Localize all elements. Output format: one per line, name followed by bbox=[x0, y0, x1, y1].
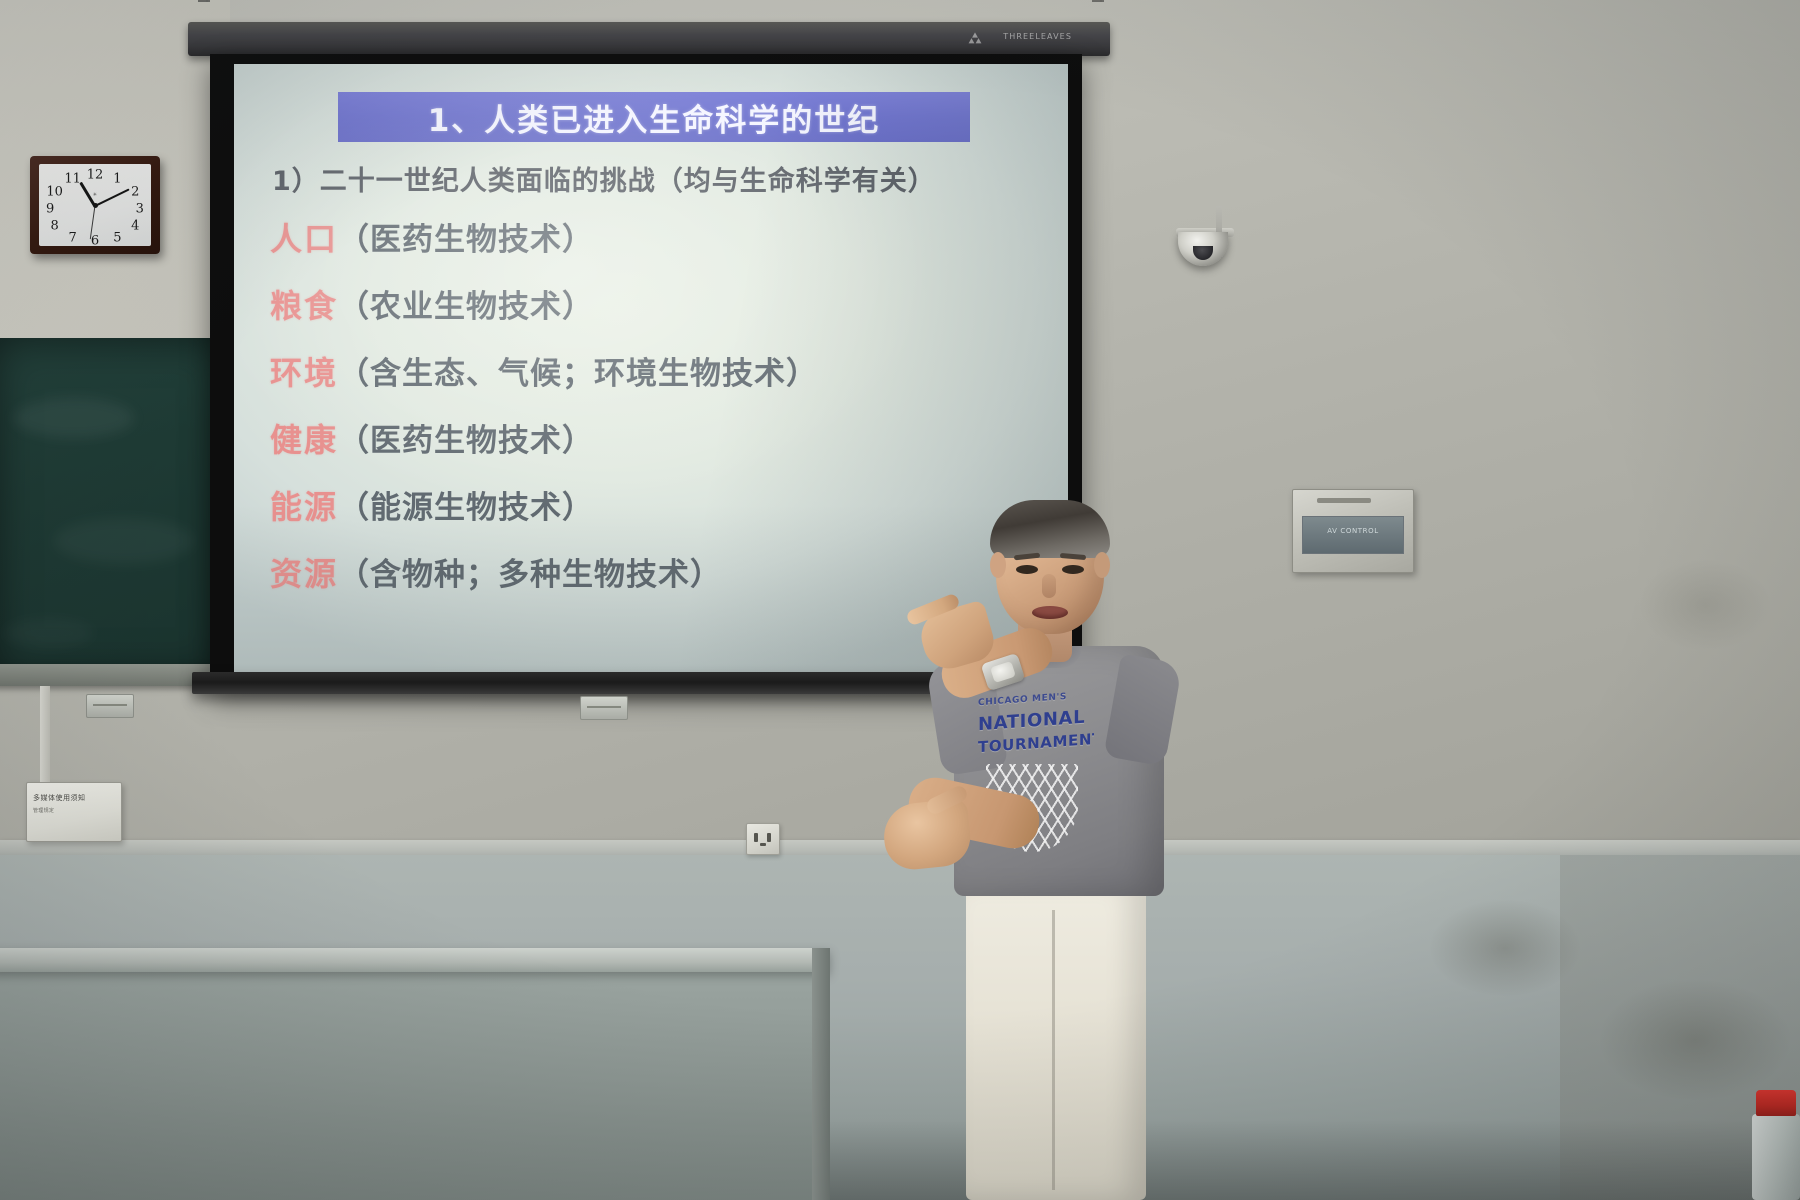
clock-number-7: 7 bbox=[68, 231, 76, 244]
presenter-hair bbox=[990, 500, 1110, 558]
clock-face: ✳ 12 1 2 3 4 5 6 7 8 9 10 11 bbox=[39, 164, 151, 246]
wall-notice-plate: 多媒体使用须知 管理规定 bbox=[26, 782, 122, 842]
wall-cable-duct bbox=[40, 686, 50, 782]
water-bottle bbox=[1752, 1090, 1800, 1200]
presenter-mouth bbox=[1032, 606, 1068, 619]
front-desk-right-edge bbox=[812, 948, 830, 1200]
clock-number-10: 10 bbox=[46, 185, 63, 198]
wall-av-control-panel[interactable]: AV CONTROL bbox=[1292, 489, 1414, 573]
panel-display-text: AV CONTROL bbox=[1303, 527, 1403, 535]
presenter-trousers-seam bbox=[1052, 910, 1055, 1190]
bottle-cap bbox=[1756, 1090, 1796, 1116]
wall-stain bbox=[1430, 900, 1580, 996]
front-desk-body bbox=[0, 970, 830, 1200]
presenter-ear-right bbox=[1094, 552, 1110, 578]
panel-slot bbox=[1317, 498, 1371, 503]
clock-number-2: 2 bbox=[131, 185, 139, 198]
green-chalkboard bbox=[0, 338, 229, 678]
slide-item-description: （医药生物技术） bbox=[338, 214, 594, 259]
clock-brand-mark: ✳ bbox=[93, 192, 98, 198]
wall-stain bbox=[1600, 980, 1790, 1100]
slide-item-description: （医药生物技术） bbox=[338, 415, 594, 460]
power-outlet[interactable] bbox=[746, 823, 780, 855]
panel-display: AV CONTROL bbox=[1302, 516, 1404, 554]
slide-list-item: 健康 （医药生物技术） bbox=[270, 415, 1060, 461]
clock-number-1: 1 bbox=[113, 172, 121, 185]
shirt-print-line-1: CHICAGO MEN'S bbox=[978, 692, 1094, 708]
slide-list-item: 人口 （医药生物技术） bbox=[270, 214, 1060, 260]
wall-stain bbox=[1640, 560, 1770, 650]
clock-number-4: 4 bbox=[131, 220, 139, 233]
classroom-scene: ✳ 12 1 2 3 4 5 6 7 8 9 10 11 THREELEA bbox=[0, 0, 1800, 1200]
clock-center-pin bbox=[93, 203, 98, 208]
screen-wire-right bbox=[1100, 0, 1102, 2]
screen-wire-left bbox=[206, 0, 208, 2]
slide-item-description: （含生态、气候；环境生物技术） bbox=[338, 348, 818, 393]
slide-item-description: （农业生物技术） bbox=[338, 281, 594, 326]
slide-item-keyword: 能源 bbox=[270, 482, 338, 528]
clock-number-8: 8 bbox=[51, 220, 59, 233]
slide-subtitle-text: 1）二十一世纪人类面临的挑战（均与生命科学有关） bbox=[272, 159, 1052, 198]
clock-number-5: 5 bbox=[113, 231, 121, 244]
projection-screen-bottom-bar bbox=[192, 672, 982, 694]
mitsubishi-emblem-icon bbox=[968, 30, 982, 44]
clock-number-6: 6 bbox=[91, 235, 99, 248]
slide-list-item: 环境 （含生态、气候；环境生物技术） bbox=[270, 348, 1060, 394]
presenter-eye-right bbox=[1062, 565, 1084, 574]
wall-mount-box bbox=[86, 694, 134, 718]
notice-line-2: 管理规定 bbox=[33, 807, 54, 814]
slide-item-keyword: 资源 bbox=[270, 549, 338, 595]
chalk-tray bbox=[0, 664, 220, 686]
clock-number-3: 3 bbox=[136, 203, 144, 216]
front-desk-top bbox=[0, 948, 830, 972]
bottle-body bbox=[1752, 1114, 1800, 1200]
presenter-nose bbox=[1042, 574, 1056, 598]
screen-bracket-right bbox=[1092, 0, 1104, 2]
presenter-eye-left bbox=[1016, 565, 1038, 574]
slide-title-text: 1、人类已进入生命科学的世纪 bbox=[428, 95, 881, 140]
clock-number-9: 9 bbox=[46, 203, 54, 216]
wristwatch-face bbox=[990, 661, 1016, 683]
projector-brand-label: THREELEAVES bbox=[1003, 32, 1072, 41]
presenter-trousers bbox=[966, 880, 1146, 1200]
slide-item-keyword: 健康 bbox=[270, 415, 338, 461]
wall-mount-box bbox=[580, 696, 628, 720]
slide-list-item: 粮食 （农业生物技术） bbox=[270, 281, 1060, 327]
clock-number-12: 12 bbox=[87, 169, 104, 182]
slide-item-description: （含物种；多种生物技术） bbox=[338, 549, 722, 594]
slide-title-banner: 1、人类已进入生命科学的世纪 bbox=[338, 92, 970, 142]
slide-item-description: （能源生物技术） bbox=[338, 482, 594, 527]
presenter-ear-left bbox=[990, 552, 1006, 578]
slide-item-keyword: 粮食 bbox=[270, 281, 338, 327]
screen-bracket-left bbox=[198, 0, 210, 2]
notice-line-1: 多媒体使用须知 bbox=[33, 793, 86, 803]
clock-minute-hand bbox=[95, 188, 130, 206]
presenter-person: CHICAGO MEN'S NATIONAL TOURNAMENT bbox=[880, 480, 1210, 1200]
slide-item-keyword: 环境 bbox=[270, 348, 338, 394]
wall-clock: ✳ 12 1 2 3 4 5 6 7 8 9 10 11 bbox=[30, 156, 160, 254]
slide-item-keyword: 人口 bbox=[270, 214, 338, 260]
projector-screen-housing: THREELEAVES bbox=[188, 22, 1110, 56]
